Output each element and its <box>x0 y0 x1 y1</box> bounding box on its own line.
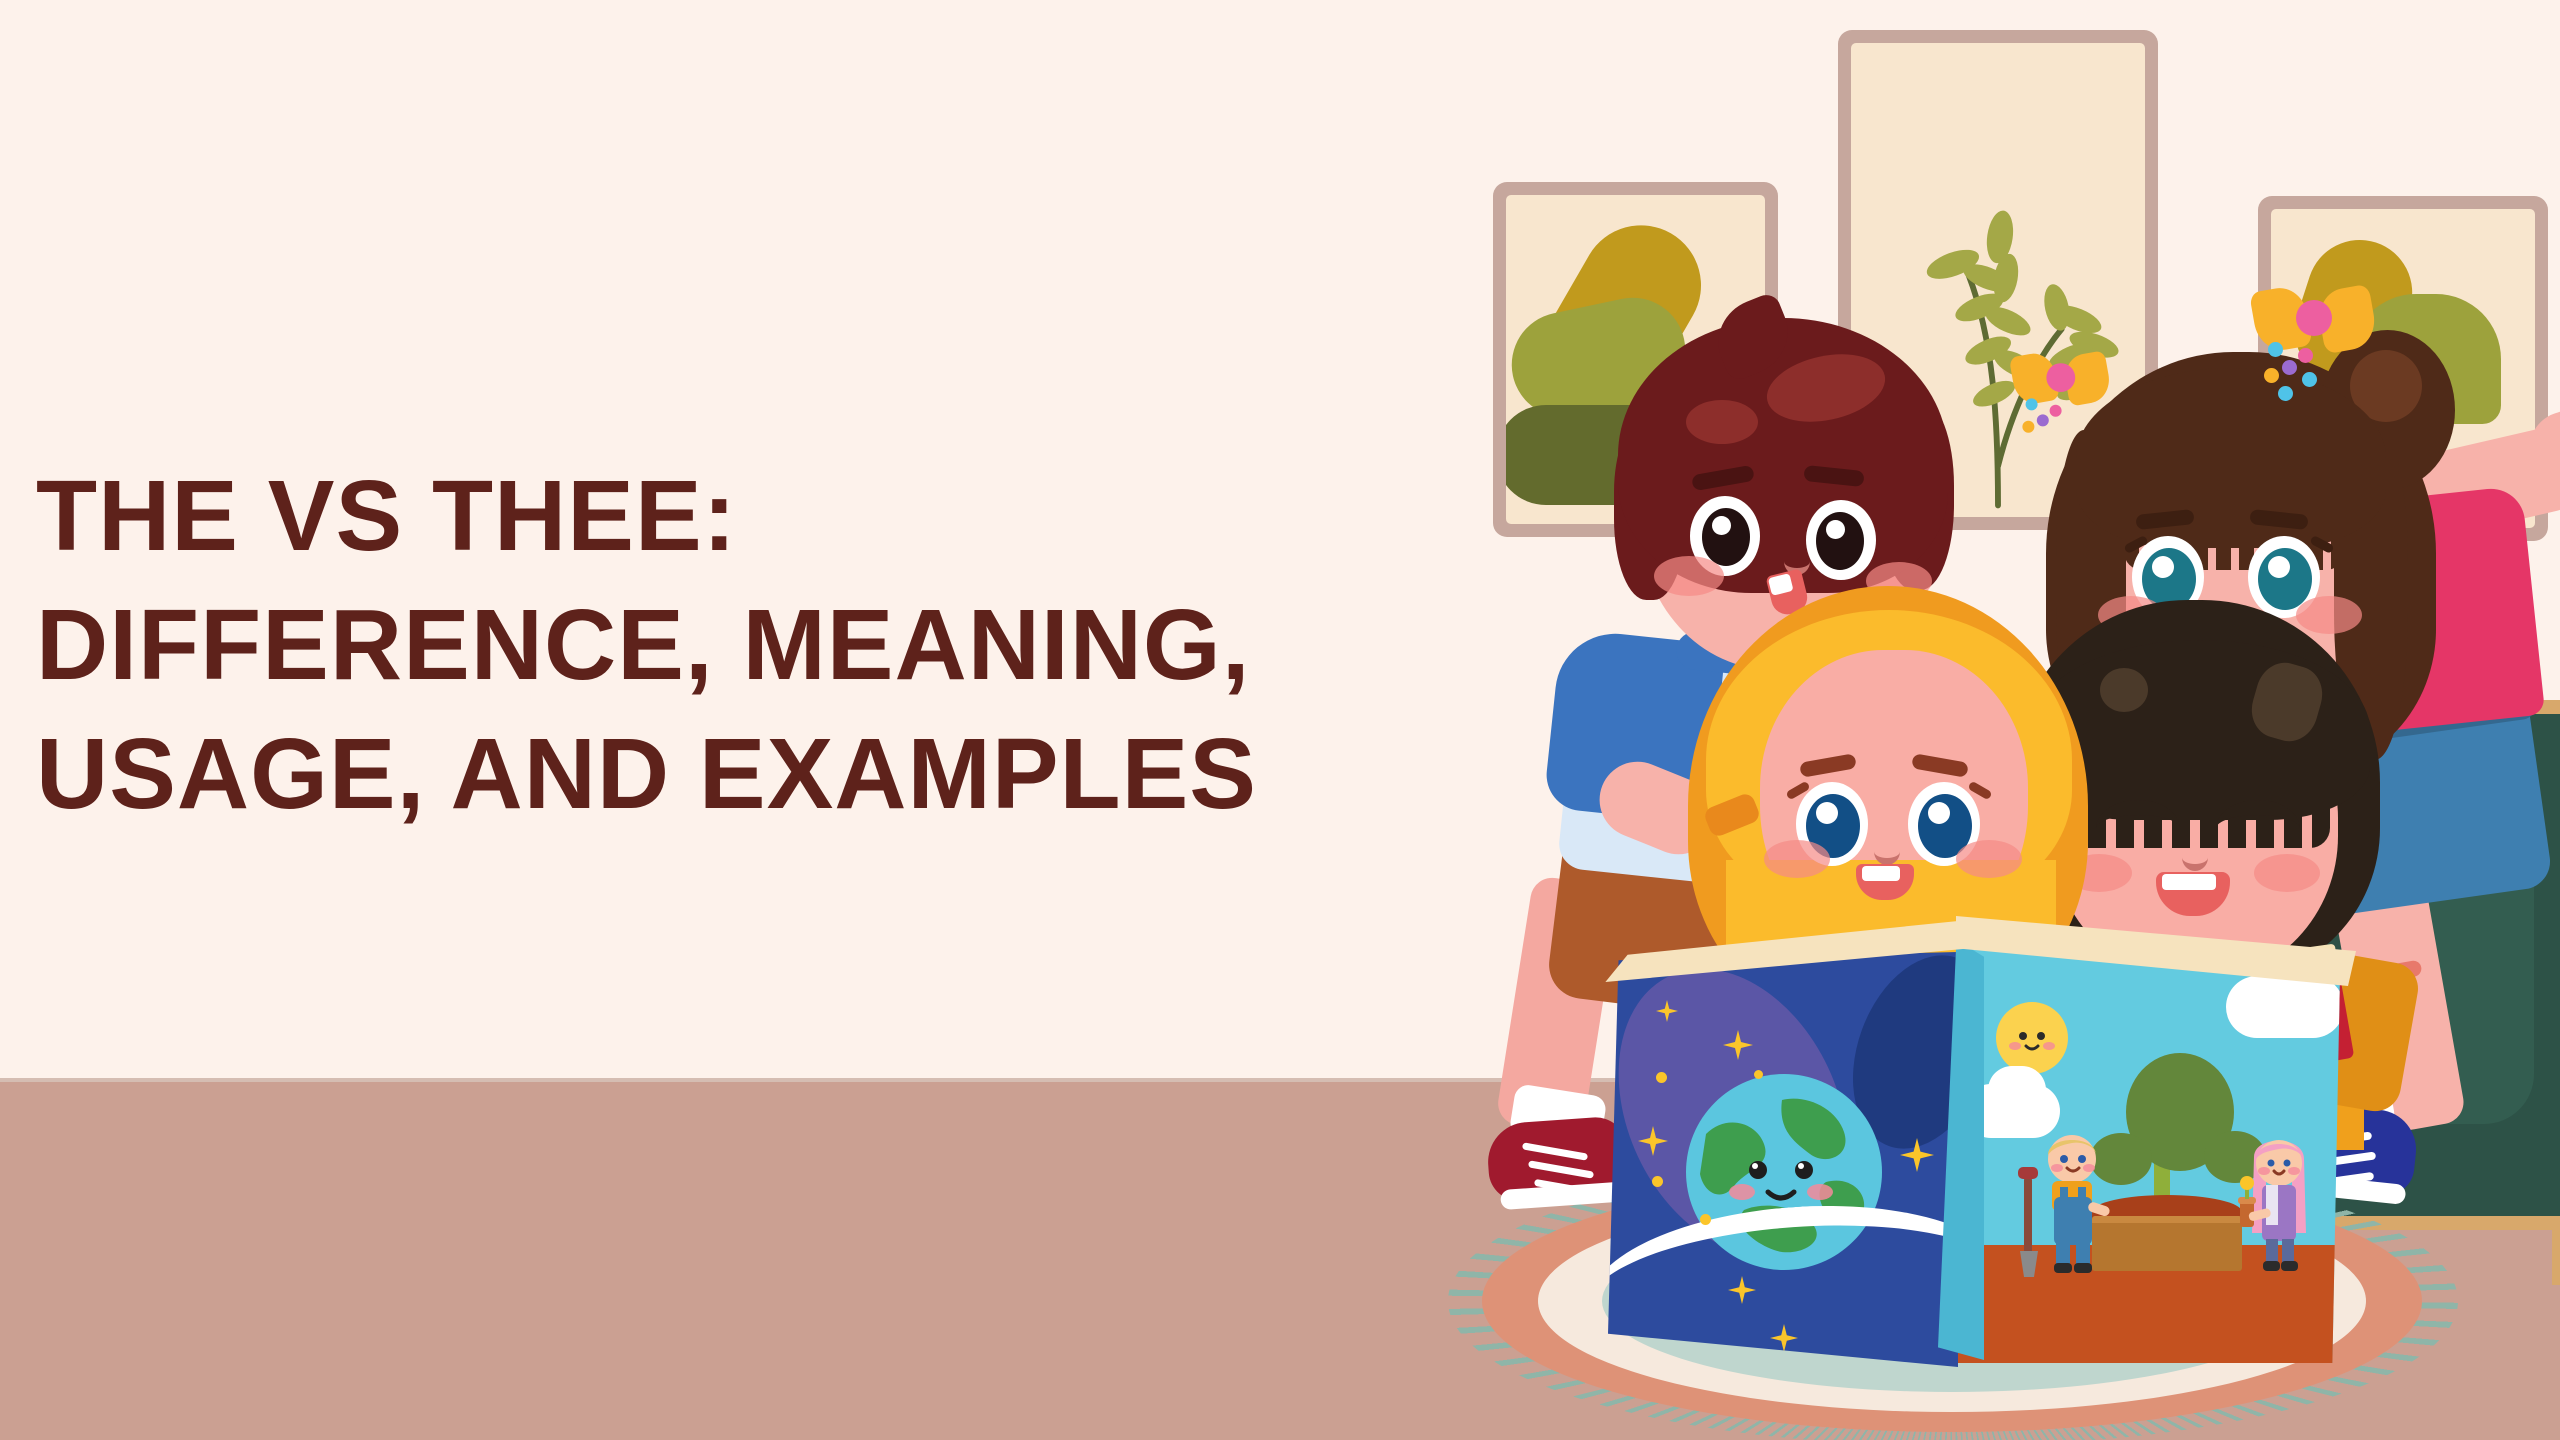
eye-glint <box>1928 802 1950 824</box>
page-title: THE VS THEE: DIFFERENCE, MEANING, USAGE,… <box>36 452 1396 839</box>
star-dot-icon <box>1754 1070 1763 1079</box>
star-dot-icon <box>1656 1072 1667 1083</box>
book-illustration-boy-gardener <box>2016 1125 2112 1285</box>
open-picture-book <box>1608 920 2348 1390</box>
book-right-page-art <box>1958 938 2348 1363</box>
book-illustration-girl-gardener <box>2236 1129 2328 1287</box>
title-line-3: USAGE, AND EXAMPLES <box>36 710 1396 839</box>
boy-black-eye-right-closed <box>2216 800 2300 857</box>
star-dot-icon <box>1652 1176 1663 1187</box>
boy-blue-hair-highlight <box>1686 400 1758 444</box>
eye-glint <box>2152 556 2174 578</box>
cloud-icon <box>1988 1066 2046 1114</box>
banner-root: THE VS THEE: DIFFERENCE, MEANING, USAGE,… <box>0 0 2560 1440</box>
book-right-page <box>1958 938 2348 1363</box>
book-left-page <box>1608 952 1958 1367</box>
eye-glint <box>1826 520 1845 539</box>
title-line-2: DIFFERENCE, MEANING, <box>36 581 1396 710</box>
boy-blue-hair <box>1618 318 1948 593</box>
boy-black-nose <box>2182 844 2208 871</box>
smiling-sun-icon <box>1996 1002 2068 1074</box>
boy-blue-cheek-left <box>1654 556 1724 596</box>
girl-hijab-cheek-right <box>1956 840 2022 878</box>
eye-glint <box>2268 556 2290 578</box>
garden-planter-box <box>2092 1216 2242 1271</box>
boy-black-eye-left-closed <box>2096 800 2180 857</box>
girl-pink-bangs <box>2076 368 2386 548</box>
boy-black-hair-highlight <box>2100 668 2148 712</box>
star-dot-icon <box>1700 1214 1711 1225</box>
girl-hijab-cheek-left <box>1764 840 1830 878</box>
girl-pink-cheek-right <box>2296 596 2362 634</box>
girl-hijab-nose <box>1874 838 1900 865</box>
title-line-1: THE VS THEE: <box>36 452 1396 581</box>
book-left-page-art <box>1608 952 1958 1367</box>
boy-black-cheek-right <box>2254 854 2320 892</box>
eye-glint <box>1816 802 1838 824</box>
eye-glint <box>1712 516 1731 535</box>
